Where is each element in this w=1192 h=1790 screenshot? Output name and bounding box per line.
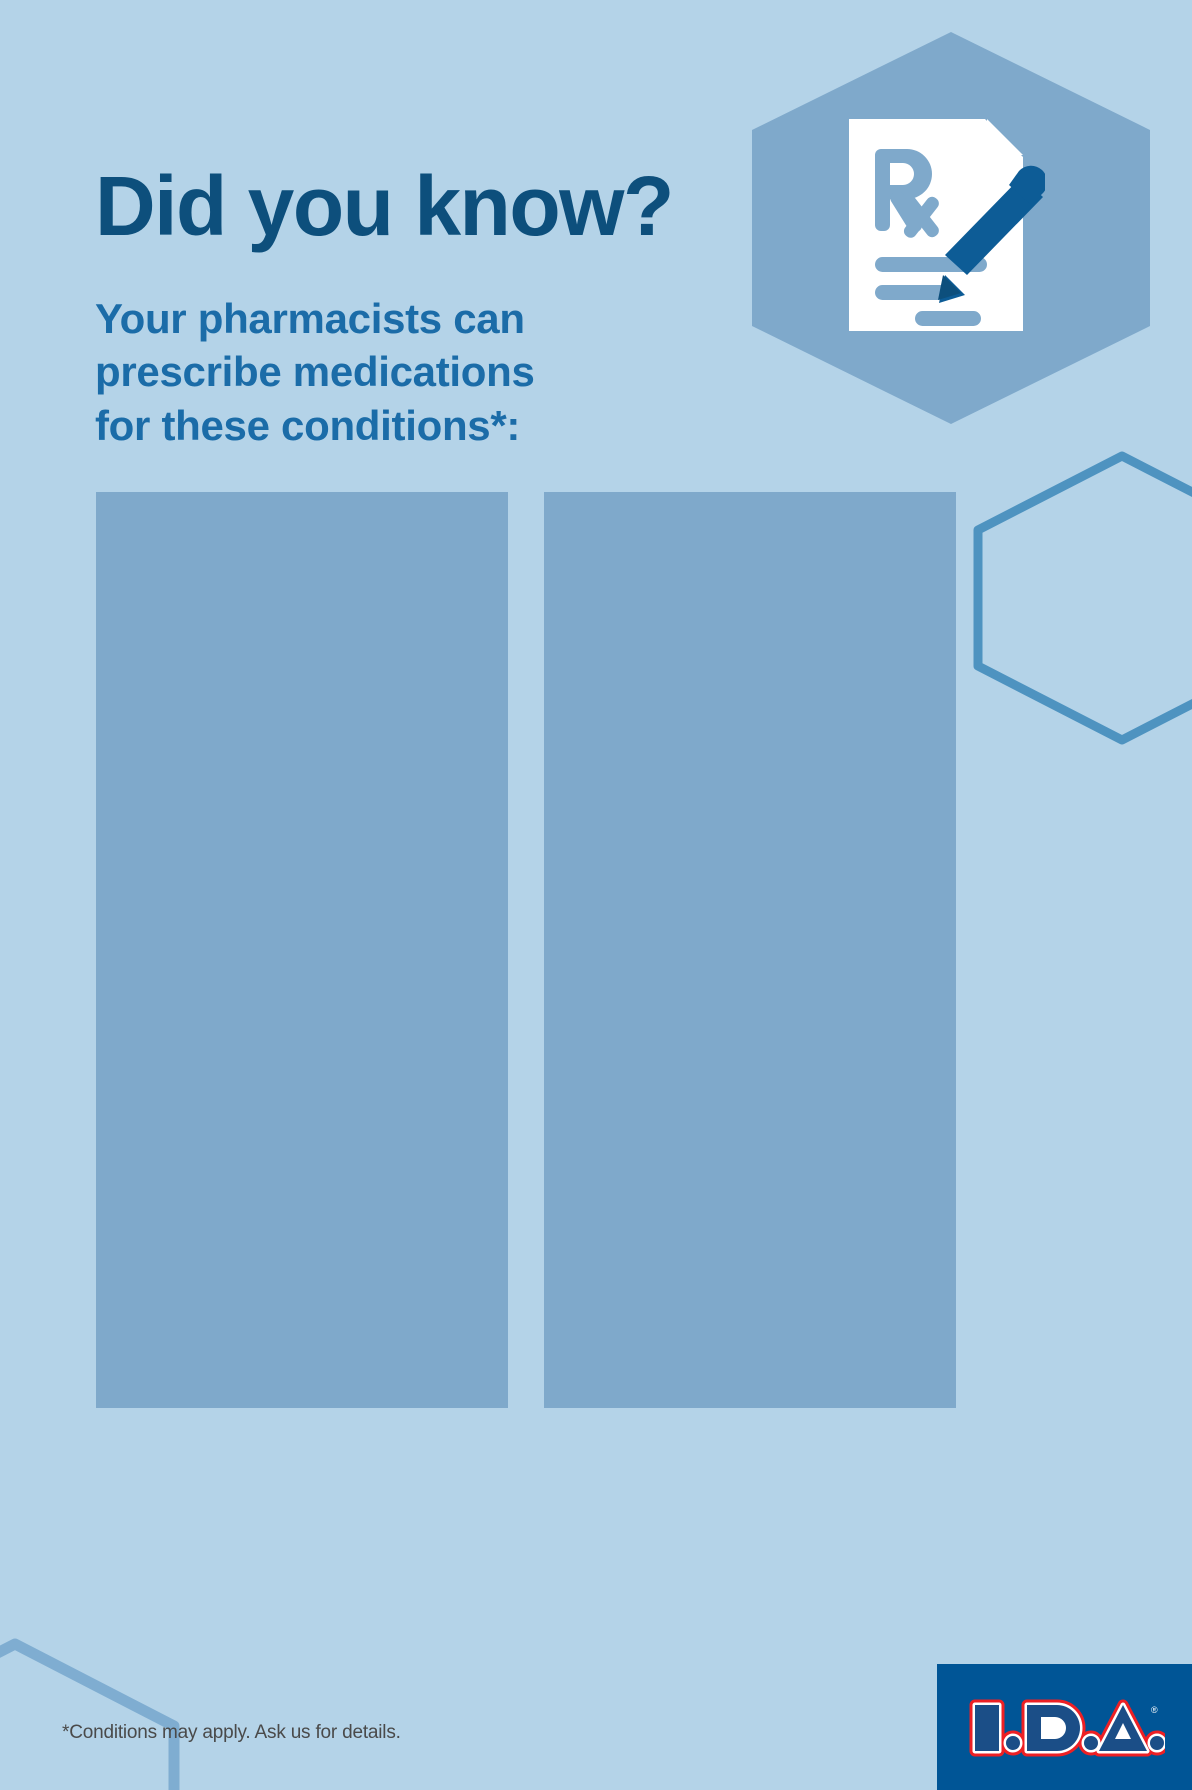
page-subtitle: Your pharmacists can prescribe medicatio… bbox=[95, 292, 535, 452]
poster-canvas: Did you know? Your pharmacists can presc… bbox=[0, 0, 1192, 1790]
subtitle-line-3: for these conditions*: bbox=[95, 399, 535, 452]
footnote-text: *Conditions may apply. Ask us for detail… bbox=[62, 1722, 401, 1744]
subtitle-line-2: prescribe medications bbox=[95, 345, 535, 398]
ida-logo-block: ® bbox=[937, 1664, 1192, 1790]
hexagon-outline-icon bbox=[972, 450, 1192, 746]
ida-logo-icon: ® bbox=[965, 1697, 1165, 1759]
rx-prescription-icon bbox=[845, 115, 1045, 335]
content-panel-right bbox=[544, 492, 956, 1408]
content-panel-left bbox=[96, 492, 508, 1408]
registered-mark: ® bbox=[1151, 1705, 1158, 1715]
hexagon-outline-icon bbox=[0, 1638, 180, 1790]
page-title: Did you know? bbox=[95, 164, 673, 248]
subtitle-line-1: Your pharmacists can bbox=[95, 292, 535, 345]
